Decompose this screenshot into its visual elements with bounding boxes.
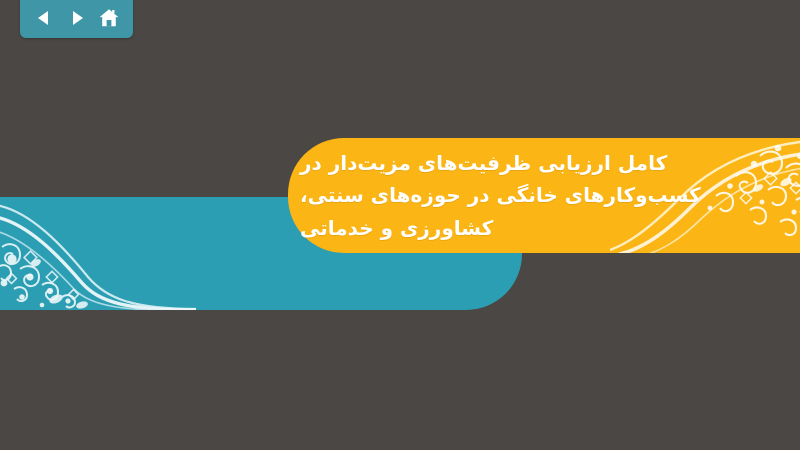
title-line-3: کشاورزی و خدماتی <box>300 212 493 244</box>
title-line-2: کسب‌وکارهای خانگی در حوزه‌های سنتی، <box>300 179 701 211</box>
slide-canvas: کامل ارزیابی ظرفیت‌های مزیت‌دار در کسب‌و… <box>0 0 800 450</box>
arabesque-corner-ornament-teal <box>0 197 196 310</box>
home-button[interactable] <box>95 4 123 32</box>
triangle-left-icon <box>34 8 54 28</box>
title-line-1: کامل ارزیابی ظرفیت‌های مزیت‌دار در <box>300 147 667 179</box>
slide-navigation-bar[interactable] <box>20 0 133 38</box>
home-icon <box>98 7 120 29</box>
triangle-right-icon <box>67 8 87 28</box>
next-slide-button[interactable] <box>63 4 91 32</box>
previous-slide-button[interactable] <box>30 4 58 32</box>
slide-title: کامل ارزیابی ظرفیت‌های مزیت‌دار در کسب‌و… <box>300 138 800 253</box>
